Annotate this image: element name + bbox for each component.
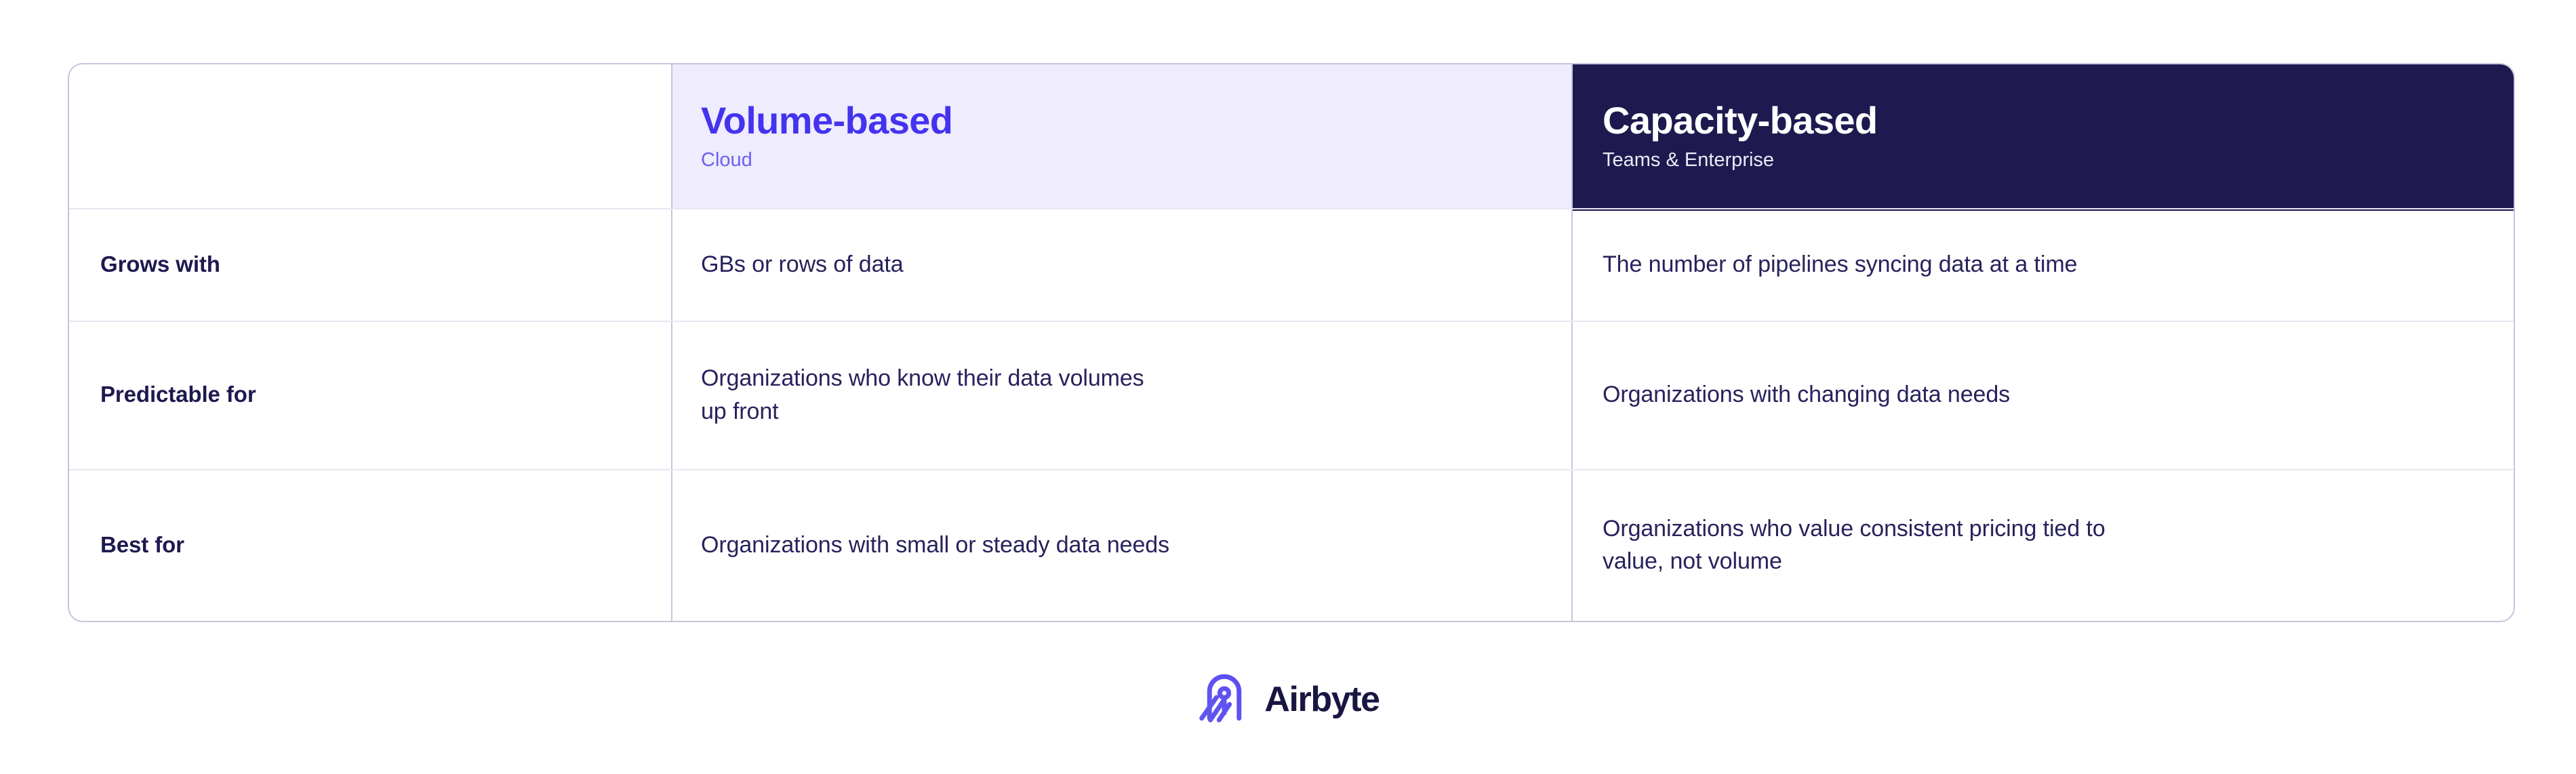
page-root: Volume-based Cloud Capacity-based Teams … <box>0 0 2576 774</box>
column-header-subtitle: Cloud <box>701 148 1544 172</box>
table-cell-volume: Organizations who know their data volume… <box>671 321 1571 469</box>
table-cell-capacity: The number of pipelines syncing data at … <box>1571 208 2514 321</box>
column-header-title: Volume-based <box>701 100 1544 141</box>
table-cell-capacity: Organizations who value consistent prici… <box>1571 469 2514 621</box>
row-label: Predictable for <box>100 380 641 409</box>
table-cell-capacity: Organizations with changing data needs <box>1571 321 2514 469</box>
table-cell-volume: Organizations with small or steady data … <box>671 469 1571 621</box>
table-cell-volume: GBs or rows of data <box>671 208 1571 321</box>
cell-value: Organizations who value consistent prici… <box>1603 512 2482 578</box>
table-row: Predictable for <box>69 321 671 469</box>
airbyte-logo: Airbyte <box>0 670 2576 729</box>
cell-value: Organizations with changing data needs <box>1603 378 2482 411</box>
row-label: Best for <box>100 531 641 560</box>
cell-value: Organizations with small or steady data … <box>701 529 1544 561</box>
airbyte-logo-mark-icon <box>1196 670 1252 729</box>
table-row: Grows with <box>69 208 671 321</box>
airbyte-wordmark: Airbyte <box>1264 682 1379 717</box>
comparison-table-wrapper: Volume-based Cloud Capacity-based Teams … <box>68 63 2515 622</box>
cell-value: Organizations who know their data volume… <box>701 362 1544 428</box>
cell-value: GBs or rows of data <box>701 248 1544 281</box>
table-corner-cell <box>69 64 671 208</box>
column-header-volume-based: Volume-based Cloud <box>671 64 1571 208</box>
comparison-table-grid: Volume-based Cloud Capacity-based Teams … <box>69 64 2514 621</box>
column-header-subtitle: Teams & Enterprise <box>1603 148 2482 172</box>
table-row: Best for <box>69 469 671 621</box>
cell-value: The number of pipelines syncing data at … <box>1603 248 2482 281</box>
column-header-title: Capacity-based <box>1603 100 2482 141</box>
row-label: Grows with <box>100 250 641 279</box>
column-header-capacity-based: Capacity-based Teams & Enterprise <box>1571 64 2514 208</box>
comparison-table: Volume-based Cloud Capacity-based Teams … <box>68 63 2515 622</box>
